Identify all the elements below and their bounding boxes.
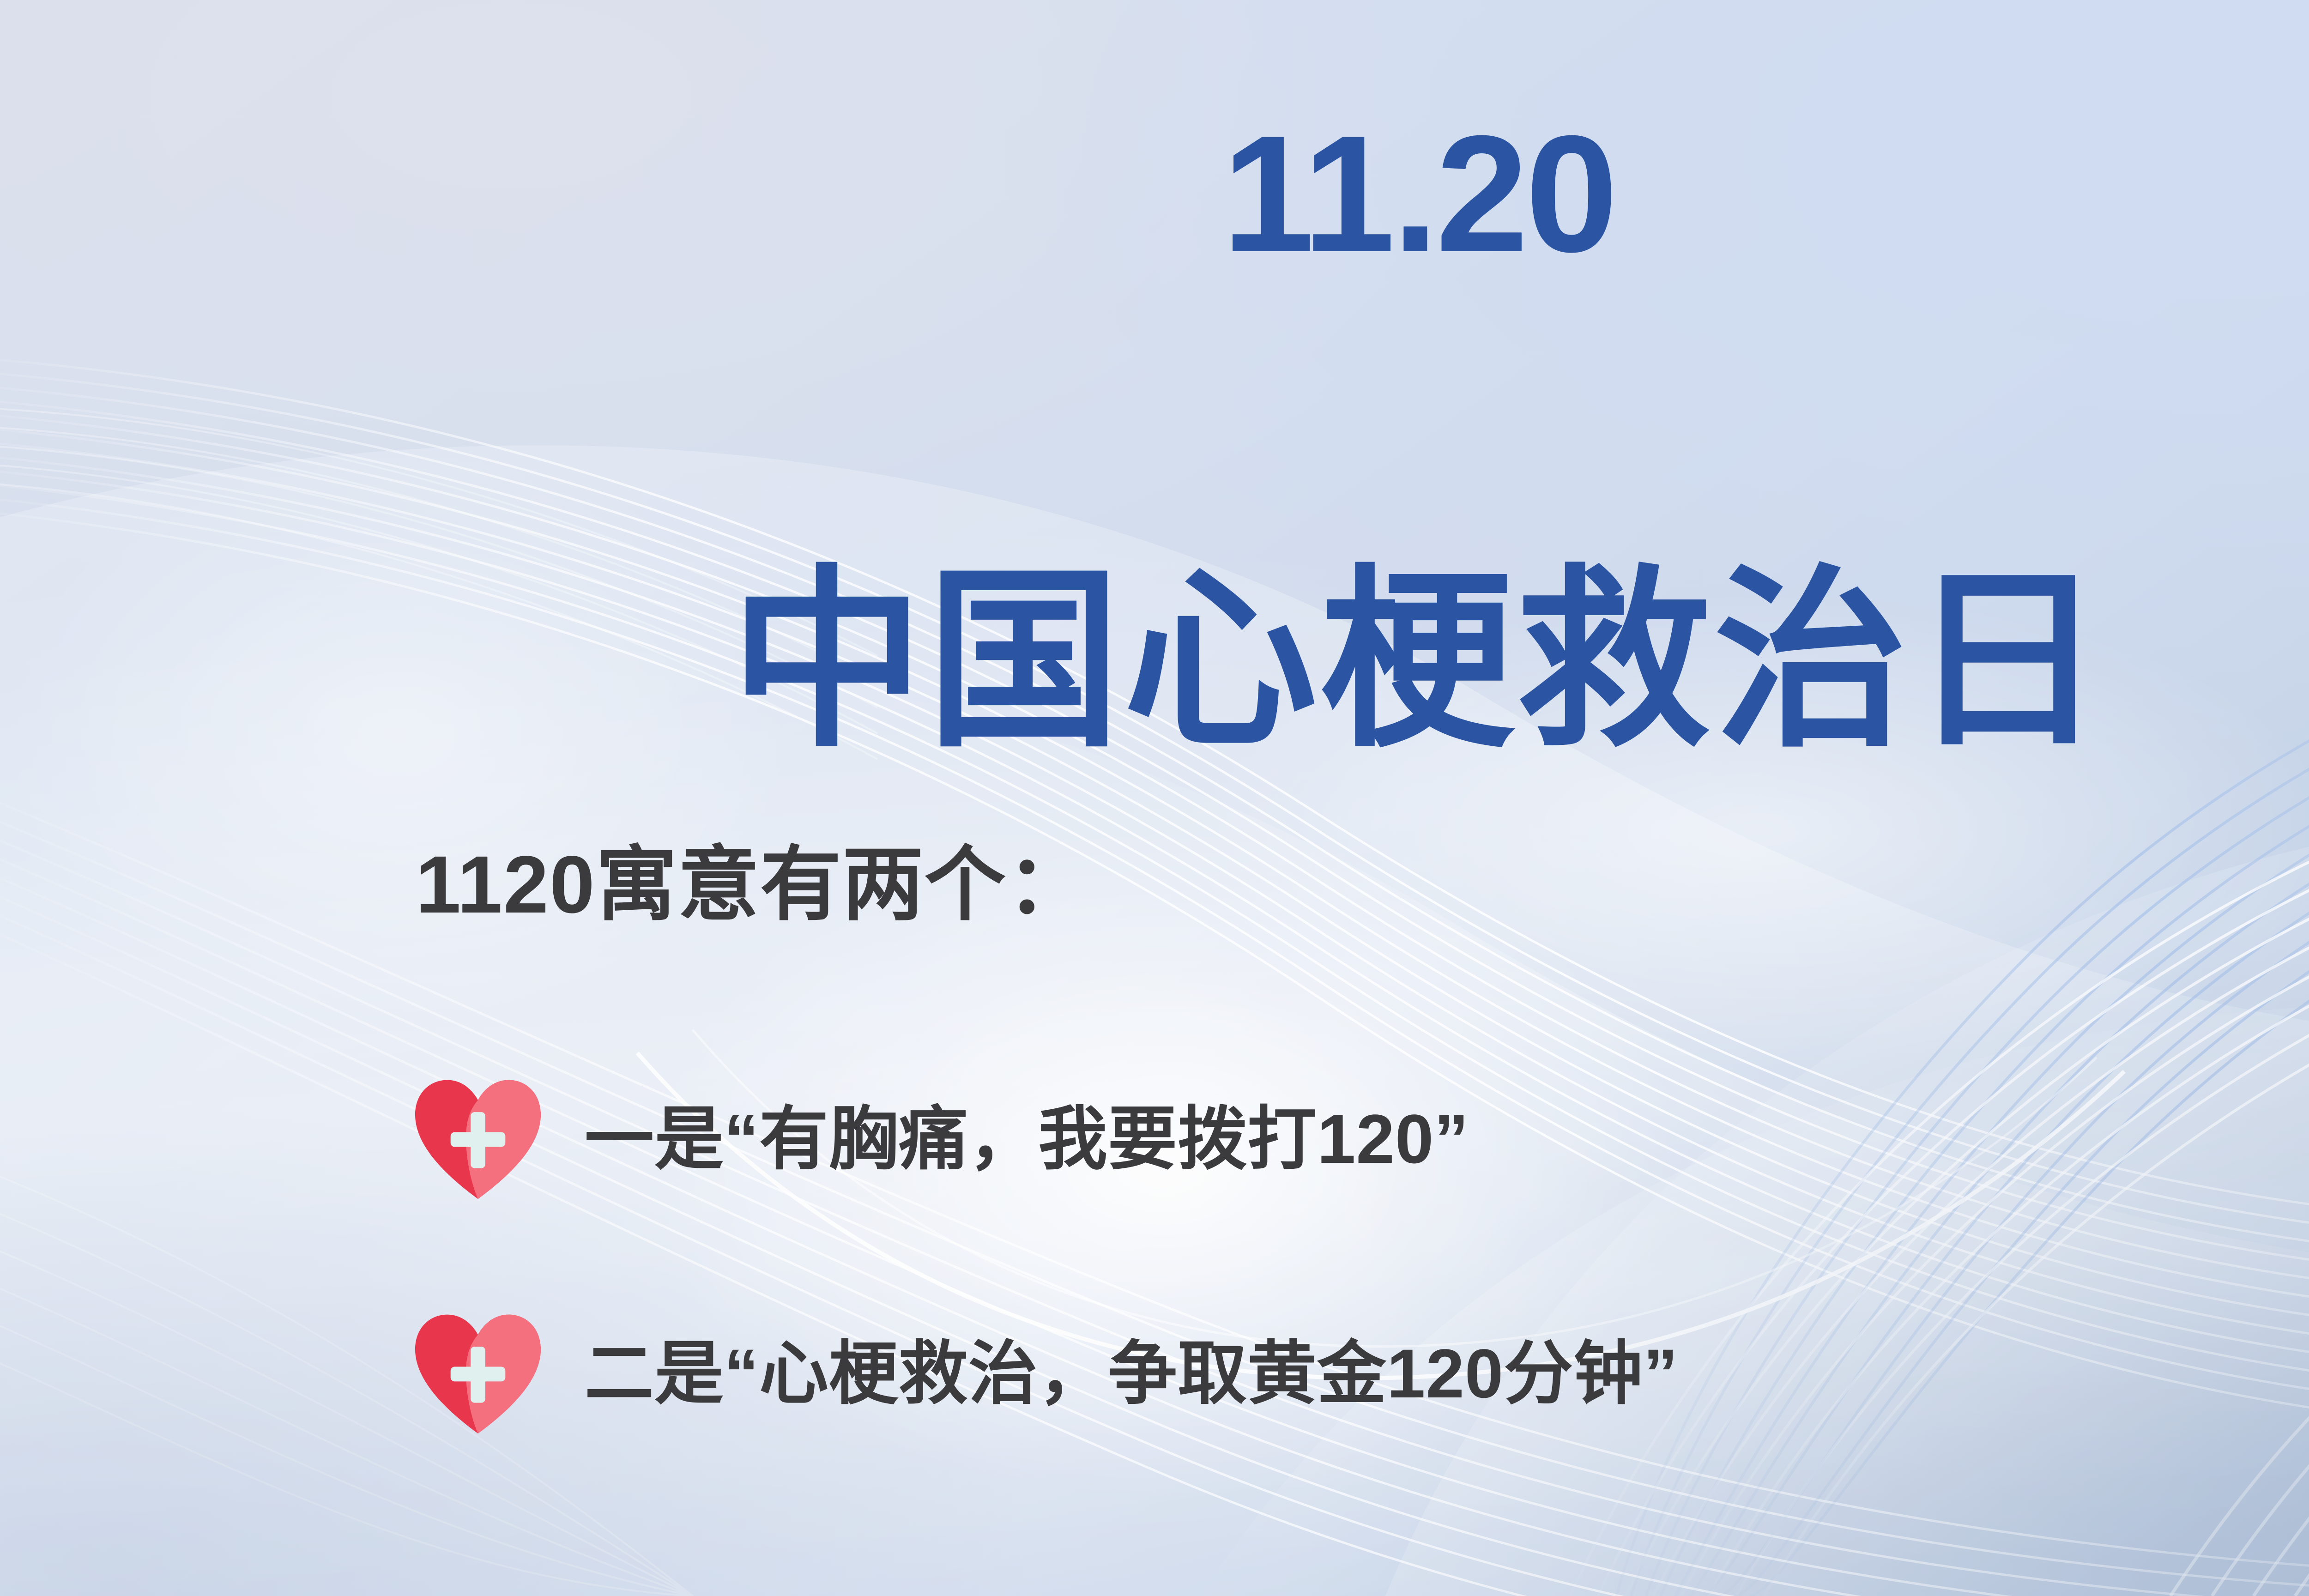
list-item: 二是“心梗救治，争取黄金120分钟” bbox=[411, 1311, 1678, 1436]
heart-plus-icon bbox=[411, 1076, 545, 1202]
page-title: 中国心梗救治日 bbox=[0, 559, 2309, 763]
heart-plus-icon bbox=[411, 1311, 545, 1436]
list-item: 一是“有胸痛，我要拨打120” bbox=[411, 1076, 1469, 1202]
date-badge: 11.20 bbox=[0, 111, 2309, 277]
list-item-label: 二是“心梗救治，争取黄金120分钟” bbox=[585, 1339, 1678, 1408]
list-item-label: 一是“有胸痛，我要拨打120” bbox=[585, 1104, 1469, 1173]
subtitle-text: 1120寓意有两个： bbox=[416, 844, 1089, 925]
poster-content: 11.20 中国心梗救治日 1120寓意有两个： 一是“有胸痛，我要拨打120”… bbox=[0, 0, 2309, 1596]
poster-canvas: 11.20 中国心梗救治日 1120寓意有两个： 一是“有胸痛，我要拨打120”… bbox=[0, 0, 2309, 1596]
